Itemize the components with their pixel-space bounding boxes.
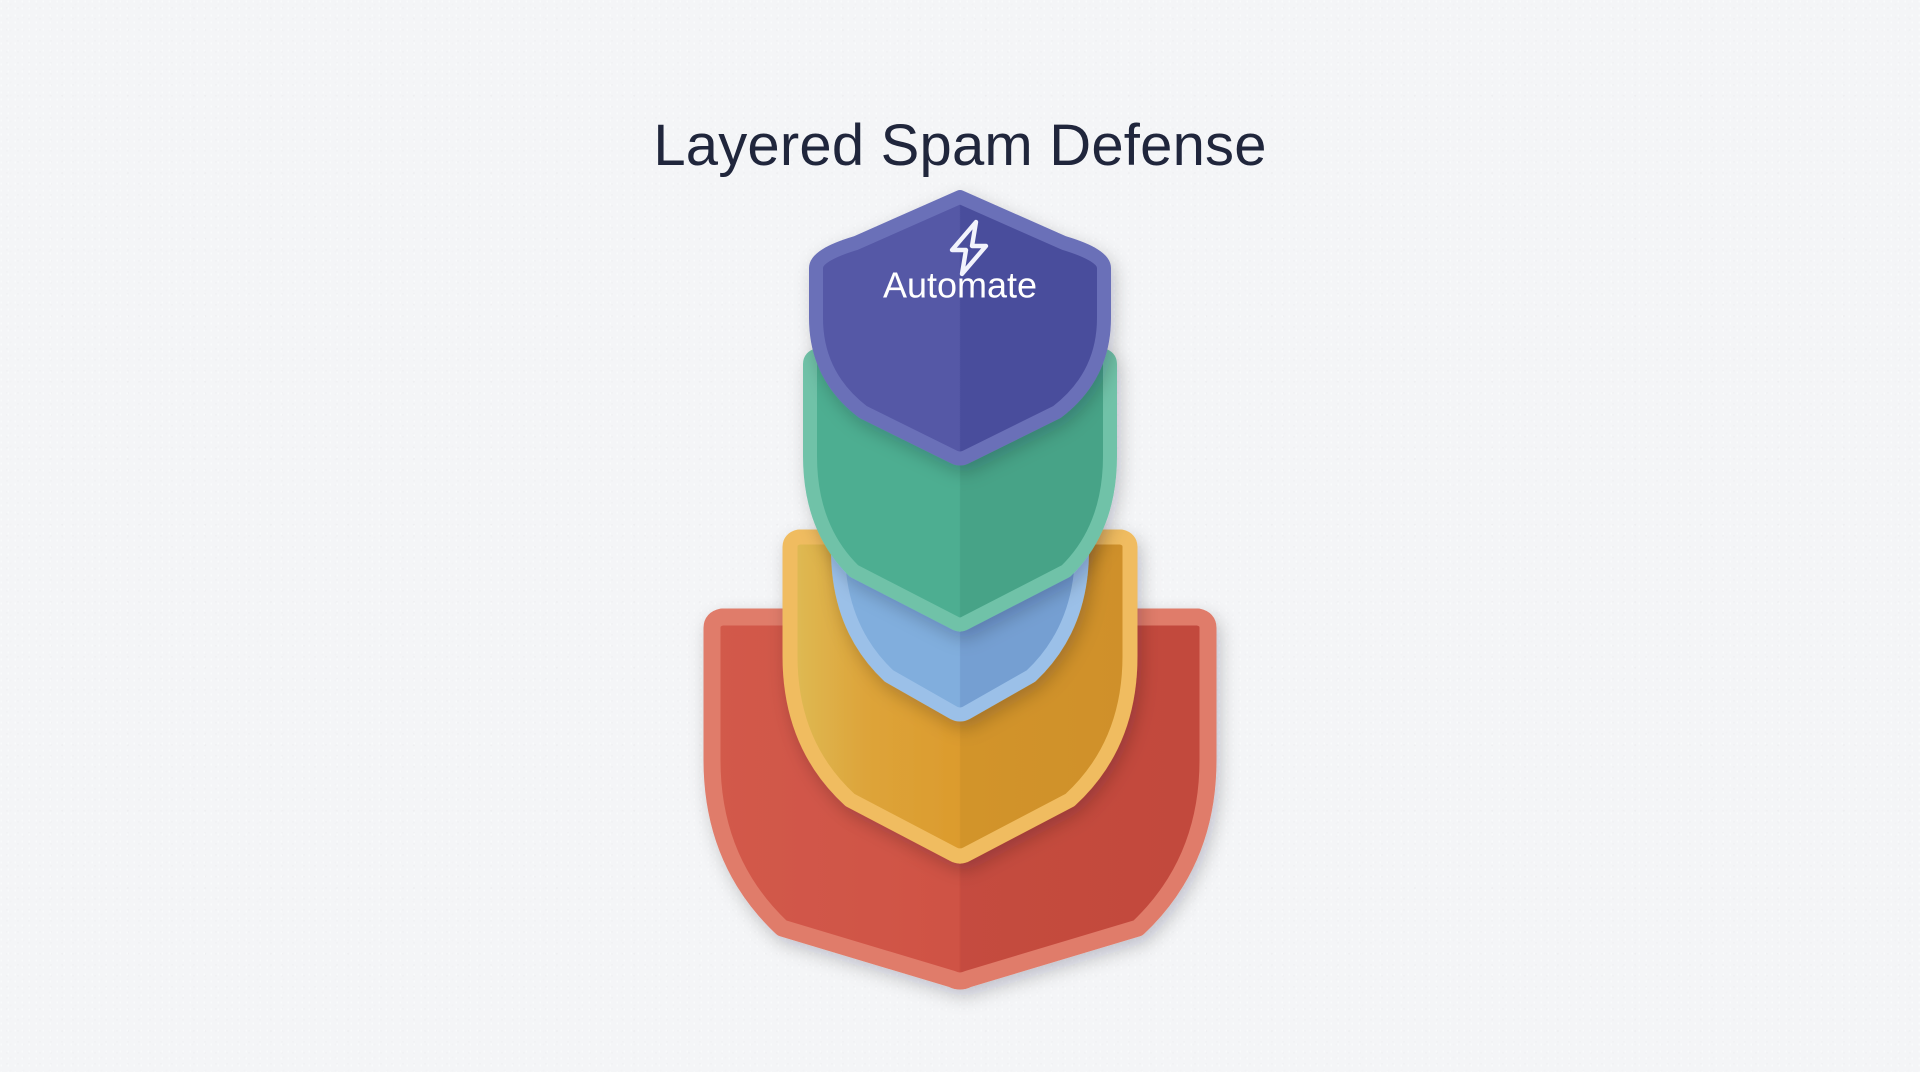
shield-label-automate: Automate [883,265,1037,306]
layered-shield-diagram: Report Unsubscribe Block [0,0,1920,1072]
